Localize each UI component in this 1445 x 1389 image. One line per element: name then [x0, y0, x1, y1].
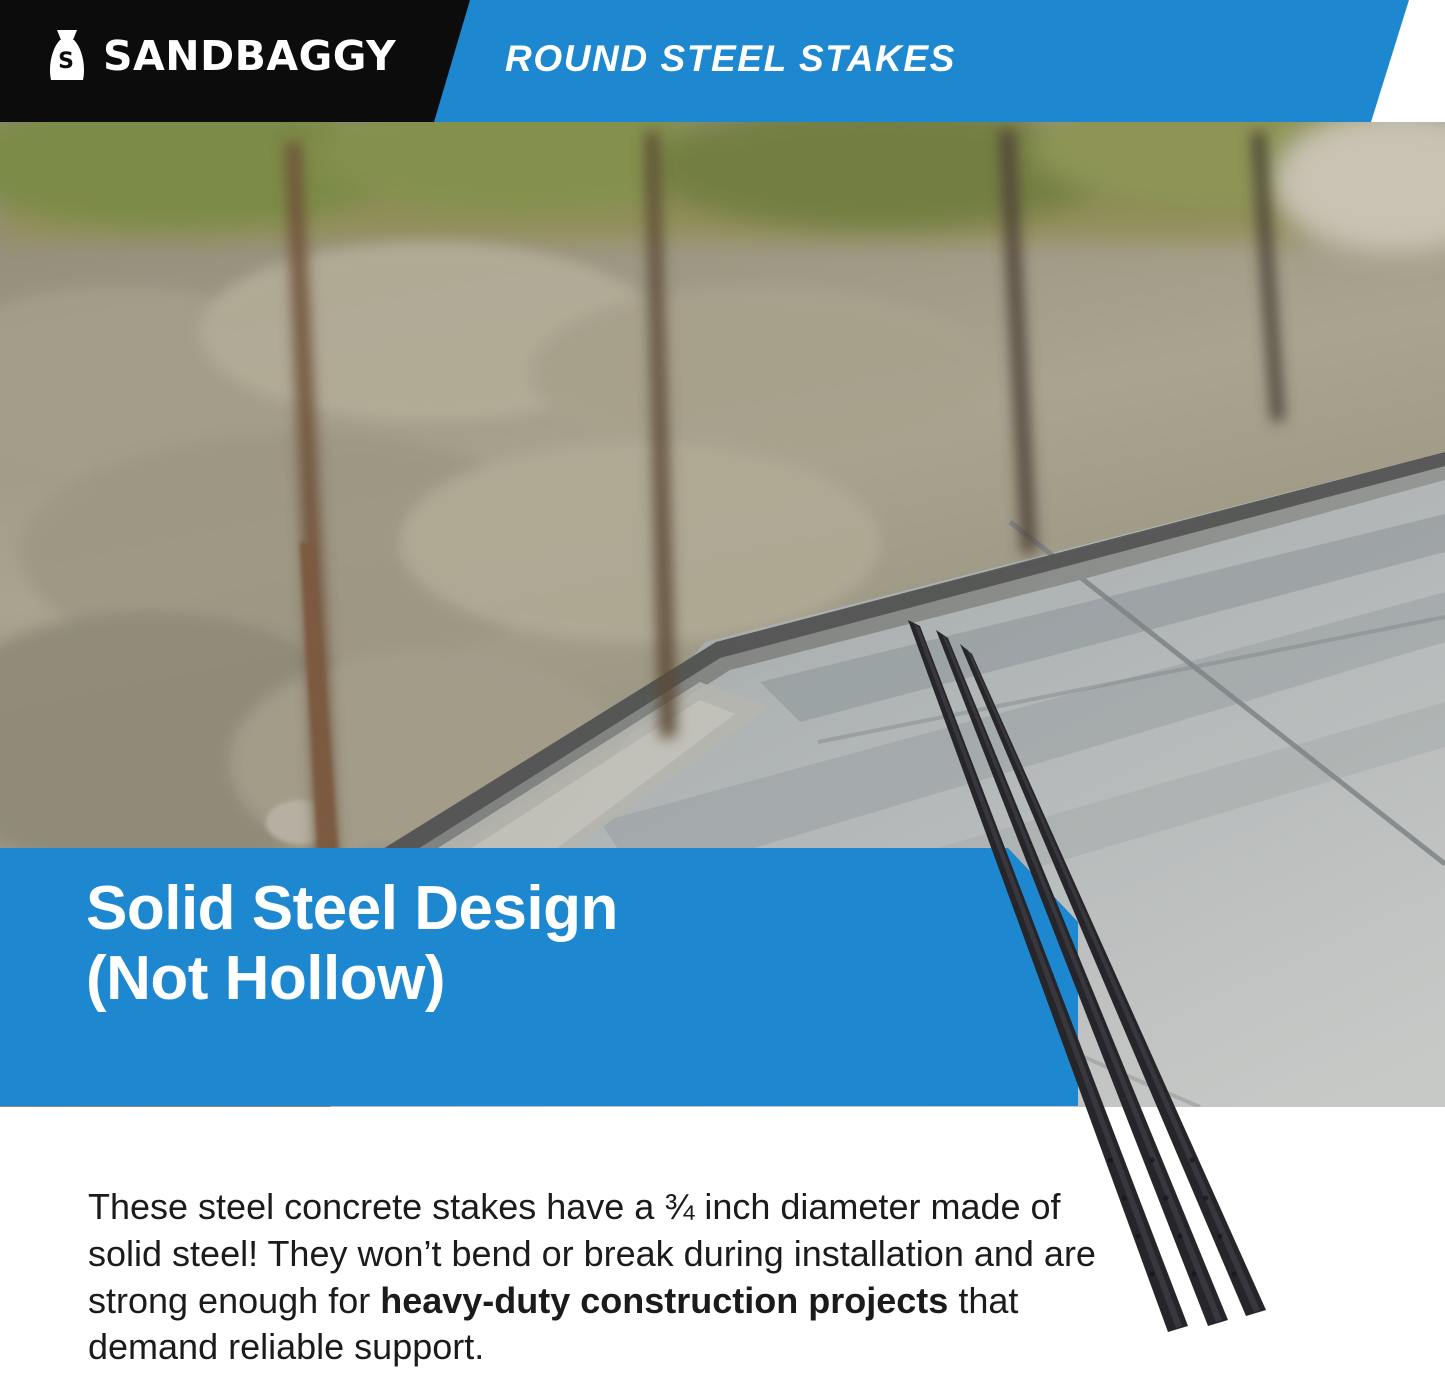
description-paragraph: These steel concrete stakes have a ¾ inc…	[88, 1184, 1118, 1371]
brand-name: SANDBAGGY	[103, 36, 396, 77]
callout-headline: Solid Steel Design (Not Hollow)	[86, 874, 618, 1014]
brand-logo: S SANDBAGGY	[44, 28, 396, 84]
header-title: ROUND STEEL STAKES	[505, 38, 956, 80]
header-bar: S SANDBAGGY ROUND STEEL STAKES	[0, 0, 1445, 122]
sandbag-logo-icon: S	[44, 28, 90, 84]
description-bold: heavy-duty construction projects	[380, 1280, 948, 1321]
product-infographic: S SANDBAGGY ROUND STEEL STAKES	[0, 0, 1445, 1389]
svg-text:S: S	[58, 49, 74, 74]
callout-banner: Solid Steel Design (Not Hollow)	[0, 848, 1078, 1106]
header-right-notch	[1335, 0, 1445, 122]
